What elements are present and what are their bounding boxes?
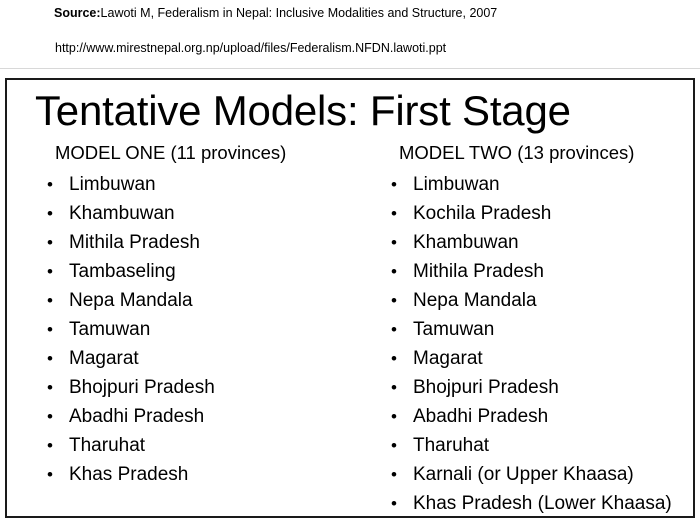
citation-source-text: Lawoti M, Federalism in Nepal: Inclusive… bbox=[101, 6, 498, 20]
model-one-header: MODEL ONE (11 provinces) bbox=[55, 142, 387, 164]
list-item: •Tamuwan bbox=[47, 315, 387, 344]
list-item: •Abadhi Pradesh bbox=[47, 402, 387, 431]
model-columns: MODEL ONE (11 provinces) •Limbuwan •Kham… bbox=[7, 142, 693, 516]
bullet-icon: • bbox=[391, 170, 403, 199]
list-item-label: Khambuwan bbox=[69, 203, 175, 224]
list-item-label: Limbuwan bbox=[69, 174, 156, 195]
list-item: •Kochila Pradesh bbox=[391, 199, 693, 228]
list-item: •Karnali (or Upper Khaasa) bbox=[391, 460, 693, 489]
slide-title: Tentative Models: First Stage bbox=[35, 87, 665, 135]
list-item: •Tambaseling bbox=[47, 257, 387, 286]
list-item: •Limbuwan bbox=[391, 170, 693, 199]
list-item: •Magarat bbox=[47, 344, 387, 373]
list-item-label: Bhojpuri Pradesh bbox=[413, 377, 559, 398]
header-divider bbox=[0, 68, 700, 69]
list-item-label: Kochila Pradesh bbox=[413, 203, 551, 224]
list-item: •Khas Pradesh bbox=[47, 460, 387, 489]
bullet-icon: • bbox=[47, 286, 59, 315]
list-item: •Khambuwan bbox=[391, 228, 693, 257]
citation-source-label: Source: bbox=[54, 6, 101, 20]
bullet-icon: • bbox=[47, 431, 59, 460]
model-one-column: MODEL ONE (11 provinces) •Limbuwan •Kham… bbox=[47, 142, 387, 489]
bullet-icon: • bbox=[391, 489, 403, 518]
bullet-icon: • bbox=[47, 228, 59, 257]
list-item: •Khambuwan bbox=[47, 199, 387, 228]
list-item-label: Tharuhat bbox=[69, 435, 145, 456]
list-item: •Nepa Mandala bbox=[47, 286, 387, 315]
model-two-province-list: •Limbuwan •Kochila Pradesh •Khambuwan •M… bbox=[391, 170, 693, 518]
citation-source-line: Source:Lawoti M, Federalism in Nepal: In… bbox=[54, 6, 497, 21]
list-item: •Khas Pradesh (Lower Khaasa) bbox=[391, 489, 693, 518]
list-item-label: Tharuhat bbox=[413, 435, 489, 456]
list-item: •Abadhi Pradesh bbox=[391, 402, 693, 431]
list-item: •Bhojpuri Pradesh bbox=[391, 373, 693, 402]
list-item-label: Limbuwan bbox=[413, 174, 500, 195]
list-item-label: Mithila Pradesh bbox=[69, 232, 200, 253]
model-one-province-list: •Limbuwan •Khambuwan •Mithila Pradesh •T… bbox=[47, 170, 387, 489]
bullet-icon: • bbox=[47, 373, 59, 402]
list-item: •Mithila Pradesh bbox=[47, 228, 387, 257]
list-item-label: Magarat bbox=[69, 348, 139, 369]
list-item-label: Khas Pradesh bbox=[69, 464, 188, 485]
list-item: •Bhojpuri Pradesh bbox=[47, 373, 387, 402]
bullet-icon: • bbox=[391, 286, 403, 315]
bullet-icon: • bbox=[391, 315, 403, 344]
bullet-icon: • bbox=[391, 199, 403, 228]
list-item-label: Abadhi Pradesh bbox=[413, 406, 548, 427]
bullet-icon: • bbox=[47, 170, 59, 199]
list-item-label: Bhojpuri Pradesh bbox=[69, 377, 215, 398]
list-item: •Magarat bbox=[391, 344, 693, 373]
list-item: •Tharuhat bbox=[47, 431, 387, 460]
list-item-label: Nepa Mandala bbox=[69, 290, 193, 311]
list-item-label: Tambaseling bbox=[69, 261, 176, 282]
list-item-label: Khambuwan bbox=[413, 232, 519, 253]
list-item: •Nepa Mandala bbox=[391, 286, 693, 315]
list-item-label: Mithila Pradesh bbox=[413, 261, 544, 282]
list-item: •Limbuwan bbox=[47, 170, 387, 199]
bullet-icon: • bbox=[391, 460, 403, 489]
bullet-icon: • bbox=[47, 199, 59, 228]
bullet-icon: • bbox=[391, 257, 403, 286]
bullet-icon: • bbox=[47, 315, 59, 344]
list-item-label: Tamuwan bbox=[69, 319, 150, 340]
bullet-icon: • bbox=[47, 460, 59, 489]
list-item-label: Abadhi Pradesh bbox=[69, 406, 204, 427]
bullet-icon: • bbox=[391, 431, 403, 460]
list-item-label: Nepa Mandala bbox=[413, 290, 537, 311]
model-two-header: MODEL TWO (13 provinces) bbox=[399, 142, 693, 164]
list-item: •Tharuhat bbox=[391, 431, 693, 460]
list-item: •Tamuwan bbox=[391, 315, 693, 344]
bullet-icon: • bbox=[391, 402, 403, 431]
model-two-column: MODEL TWO (13 provinces) •Limbuwan •Koch… bbox=[391, 142, 693, 518]
bullet-icon: • bbox=[391, 228, 403, 257]
citation-url: http://www.mirestnepal.org.np/upload/fil… bbox=[55, 41, 446, 56]
bullet-icon: • bbox=[47, 257, 59, 286]
list-item-label: Karnali (or Upper Khaasa) bbox=[413, 464, 634, 485]
citation-header: Source:Lawoti M, Federalism in Nepal: In… bbox=[0, 0, 700, 68]
list-item-label: Khas Pradesh (Lower Khaasa) bbox=[413, 493, 672, 514]
list-item-label: Magarat bbox=[413, 348, 483, 369]
list-item-label: Tamuwan bbox=[413, 319, 494, 340]
bullet-icon: • bbox=[47, 344, 59, 373]
list-item: •Mithila Pradesh bbox=[391, 257, 693, 286]
bullet-icon: • bbox=[391, 373, 403, 402]
bullet-icon: • bbox=[391, 344, 403, 373]
slide-frame: Tentative Models: First Stage MODEL ONE … bbox=[5, 78, 695, 518]
bullet-icon: • bbox=[47, 402, 59, 431]
